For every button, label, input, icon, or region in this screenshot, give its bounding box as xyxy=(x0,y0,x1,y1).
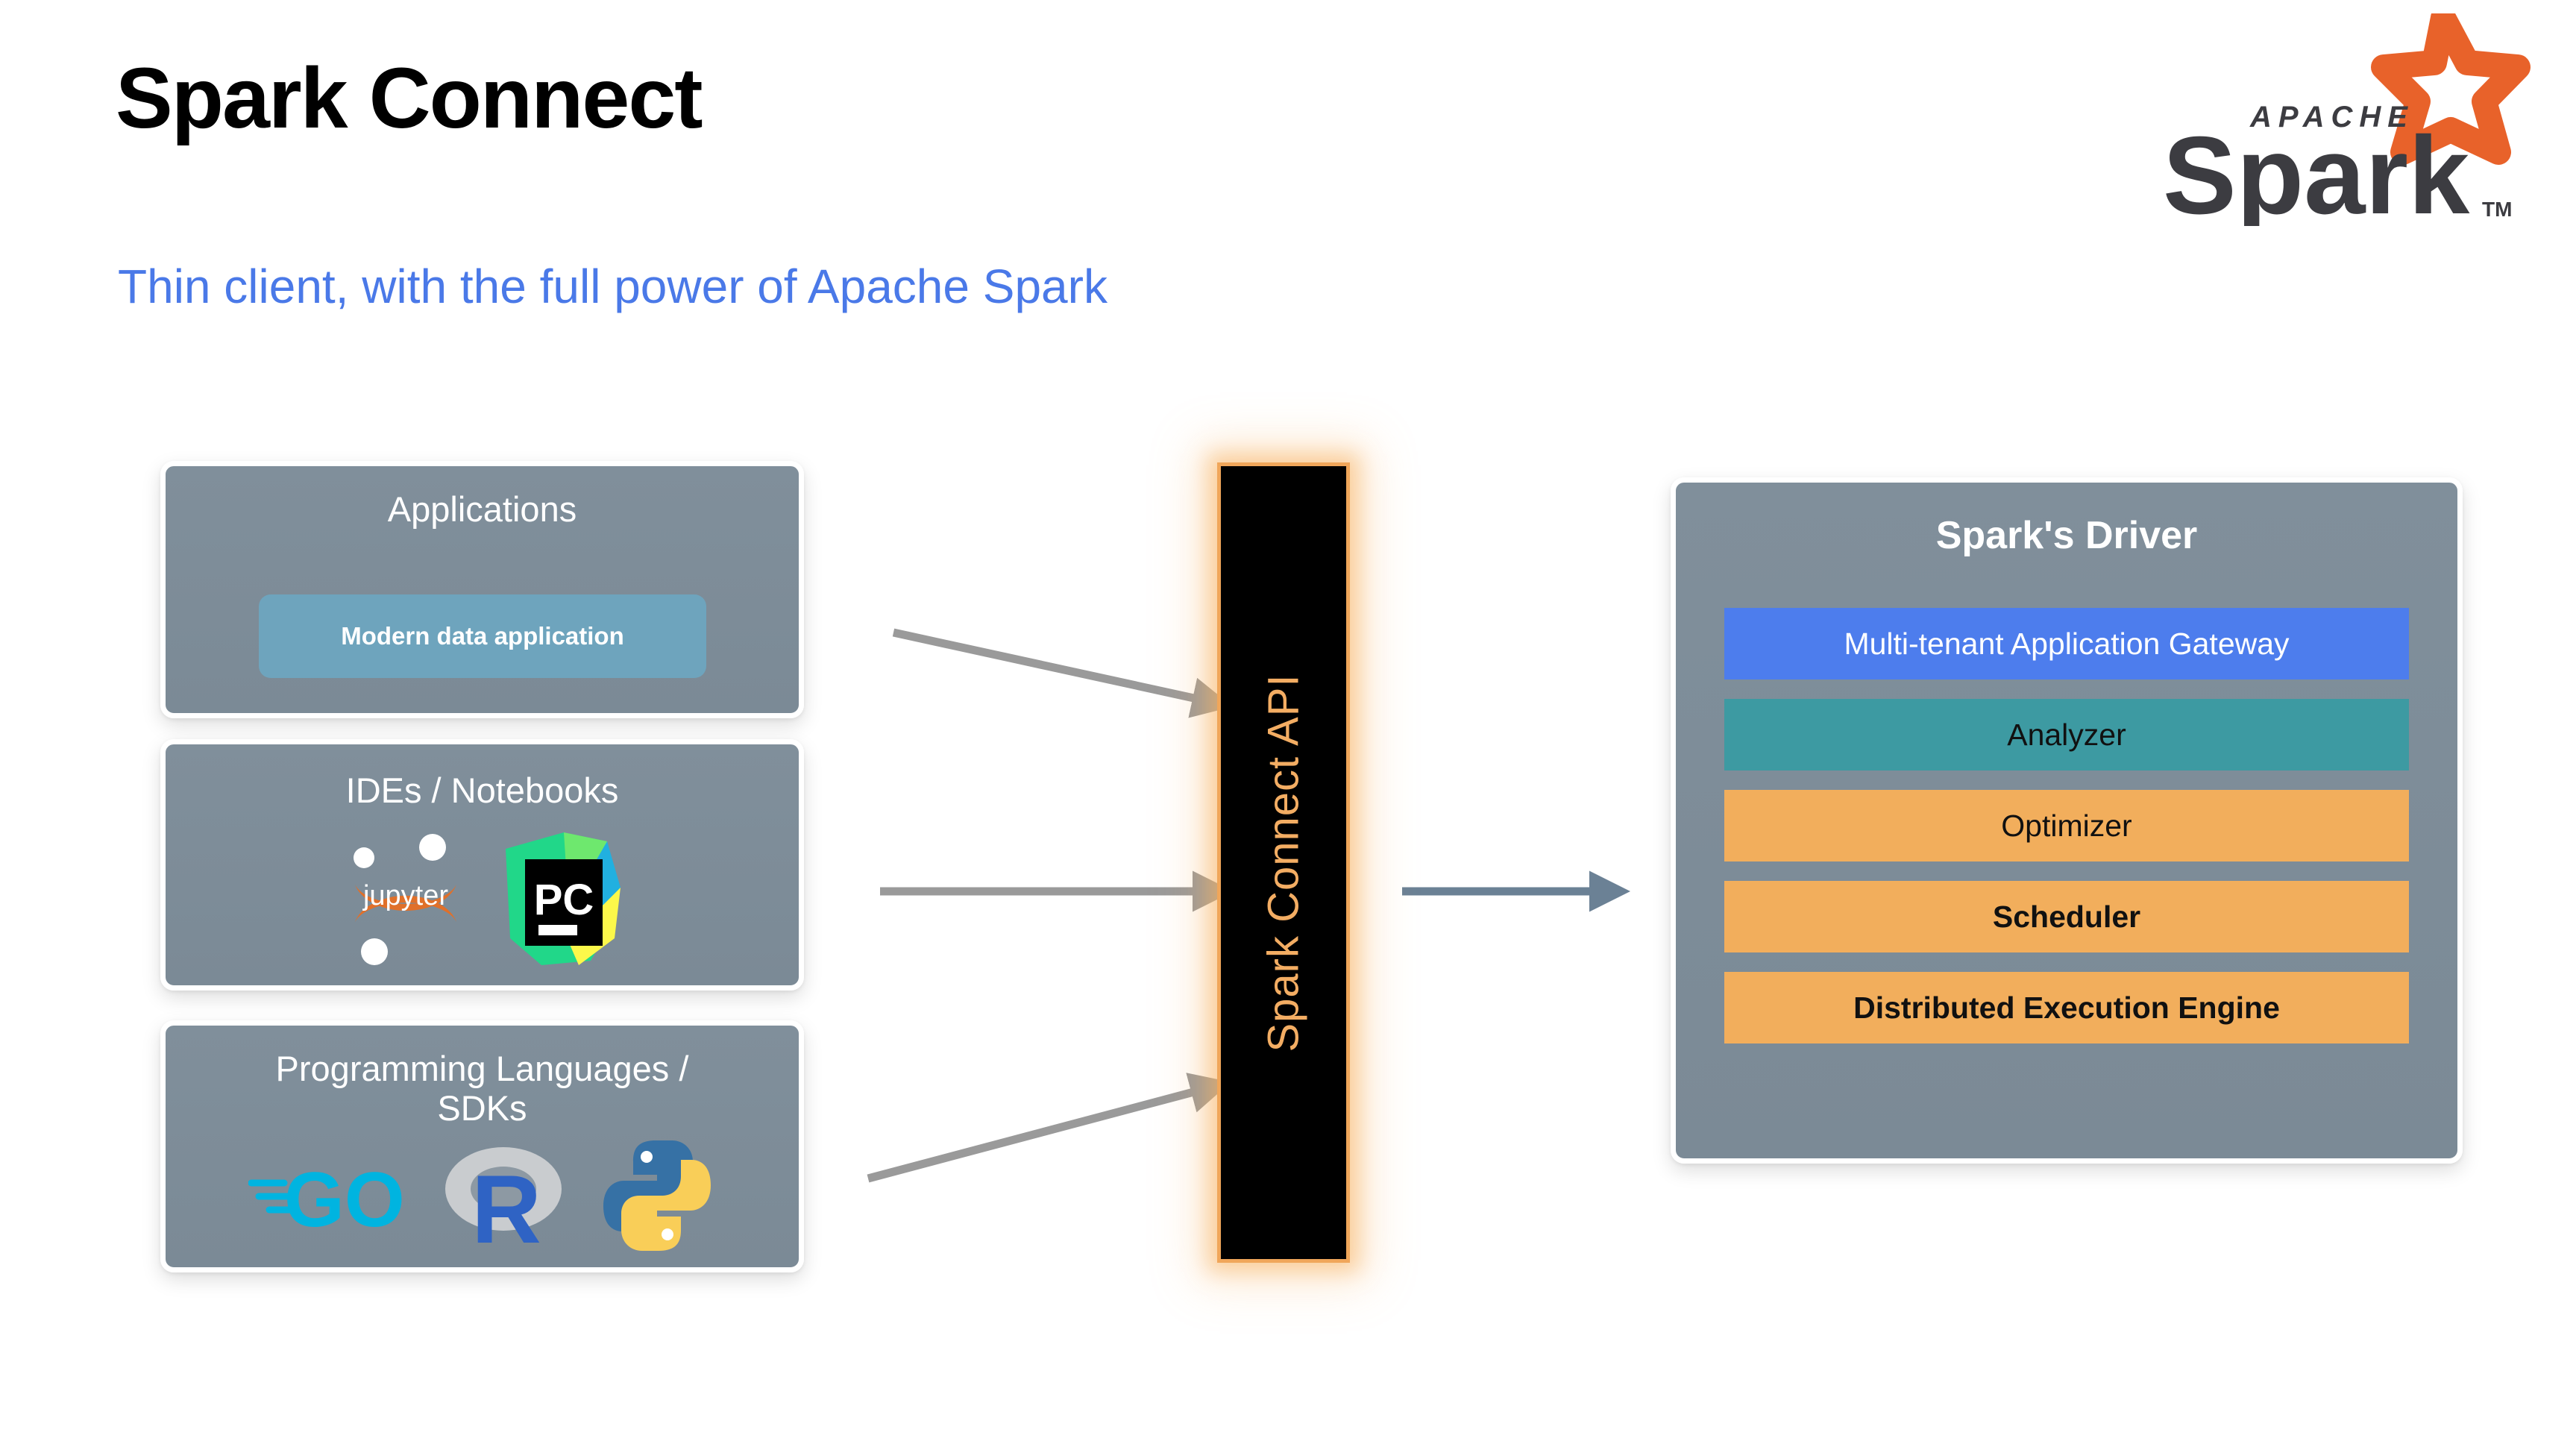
pycharm-pc-text: PC xyxy=(534,876,594,924)
arrow-applications-to-api xyxy=(880,612,1253,716)
driver-layer-optimizer[interactable]: Optimizer xyxy=(1724,790,2409,861)
modern-data-application-chip[interactable]: Modern data application xyxy=(259,594,706,678)
r-logo: R xyxy=(438,1140,572,1252)
spark-connect-api-label: Spark Connect API xyxy=(1259,674,1309,1052)
panel-applications[interactable]: Applications Modern data application xyxy=(160,461,804,718)
panel-spark-driver[interactable]: Spark's Driver Multi-tenant Application … xyxy=(1671,477,2463,1164)
driver-layer-multi-tenant-application-gateway[interactable]: Multi-tenant Application Gateway xyxy=(1724,608,2409,679)
go-wordmark-text: GO xyxy=(284,1157,405,1243)
panel-languages-title: Programming Languages / SDKs xyxy=(166,1049,799,1128)
driver-layer-scheduler[interactable]: Scheduler xyxy=(1724,881,2409,952)
trademark-text: TM xyxy=(2482,198,2512,221)
panel-applications-title: Applications xyxy=(166,490,799,530)
arrow-ides-to-api xyxy=(880,858,1253,925)
page-subtitle: Thin client, with the full power of Apac… xyxy=(118,263,1108,310)
driver-layer-distributed-execution-engine[interactable]: Distributed Execution Engine xyxy=(1724,972,2409,1043)
spark-connect-api-bar[interactable]: Spark Connect API xyxy=(1217,462,1350,1263)
driver-layer-stack: Multi-tenant Application Gateway Analyze… xyxy=(1724,608,2409,1043)
arrow-api-to-driver xyxy=(1402,858,1656,925)
driver-layer-analyzer[interactable]: Analyzer xyxy=(1724,699,2409,770)
arrow-languages-to-api xyxy=(858,1059,1253,1193)
language-logo-row: GO R xyxy=(166,1136,799,1255)
panel-driver-title: Spark's Driver xyxy=(1676,514,2457,557)
python-logo xyxy=(597,1136,717,1255)
pycharm-logo: PC xyxy=(495,826,626,968)
panel-ides-notebooks[interactable]: IDEs / Notebooks jupyter PC xyxy=(160,739,804,991)
spark-wordmark-text: Spark xyxy=(2163,114,2470,226)
jupyter-logo: jupyter xyxy=(339,826,473,968)
r-wordmark-text: R xyxy=(471,1155,541,1252)
apache-spark-logo: APACHE Spark TM xyxy=(2151,13,2531,226)
ide-logo-row: jupyter PC xyxy=(166,826,799,968)
go-logo: GO xyxy=(248,1147,412,1244)
page-title: Spark Connect xyxy=(116,56,702,142)
panel-ides-title: IDEs / Notebooks xyxy=(166,771,799,811)
panel-programming-languages[interactable]: Programming Languages / SDKs GO R xyxy=(160,1020,804,1272)
jupyter-wordmark: jupyter xyxy=(339,880,473,912)
